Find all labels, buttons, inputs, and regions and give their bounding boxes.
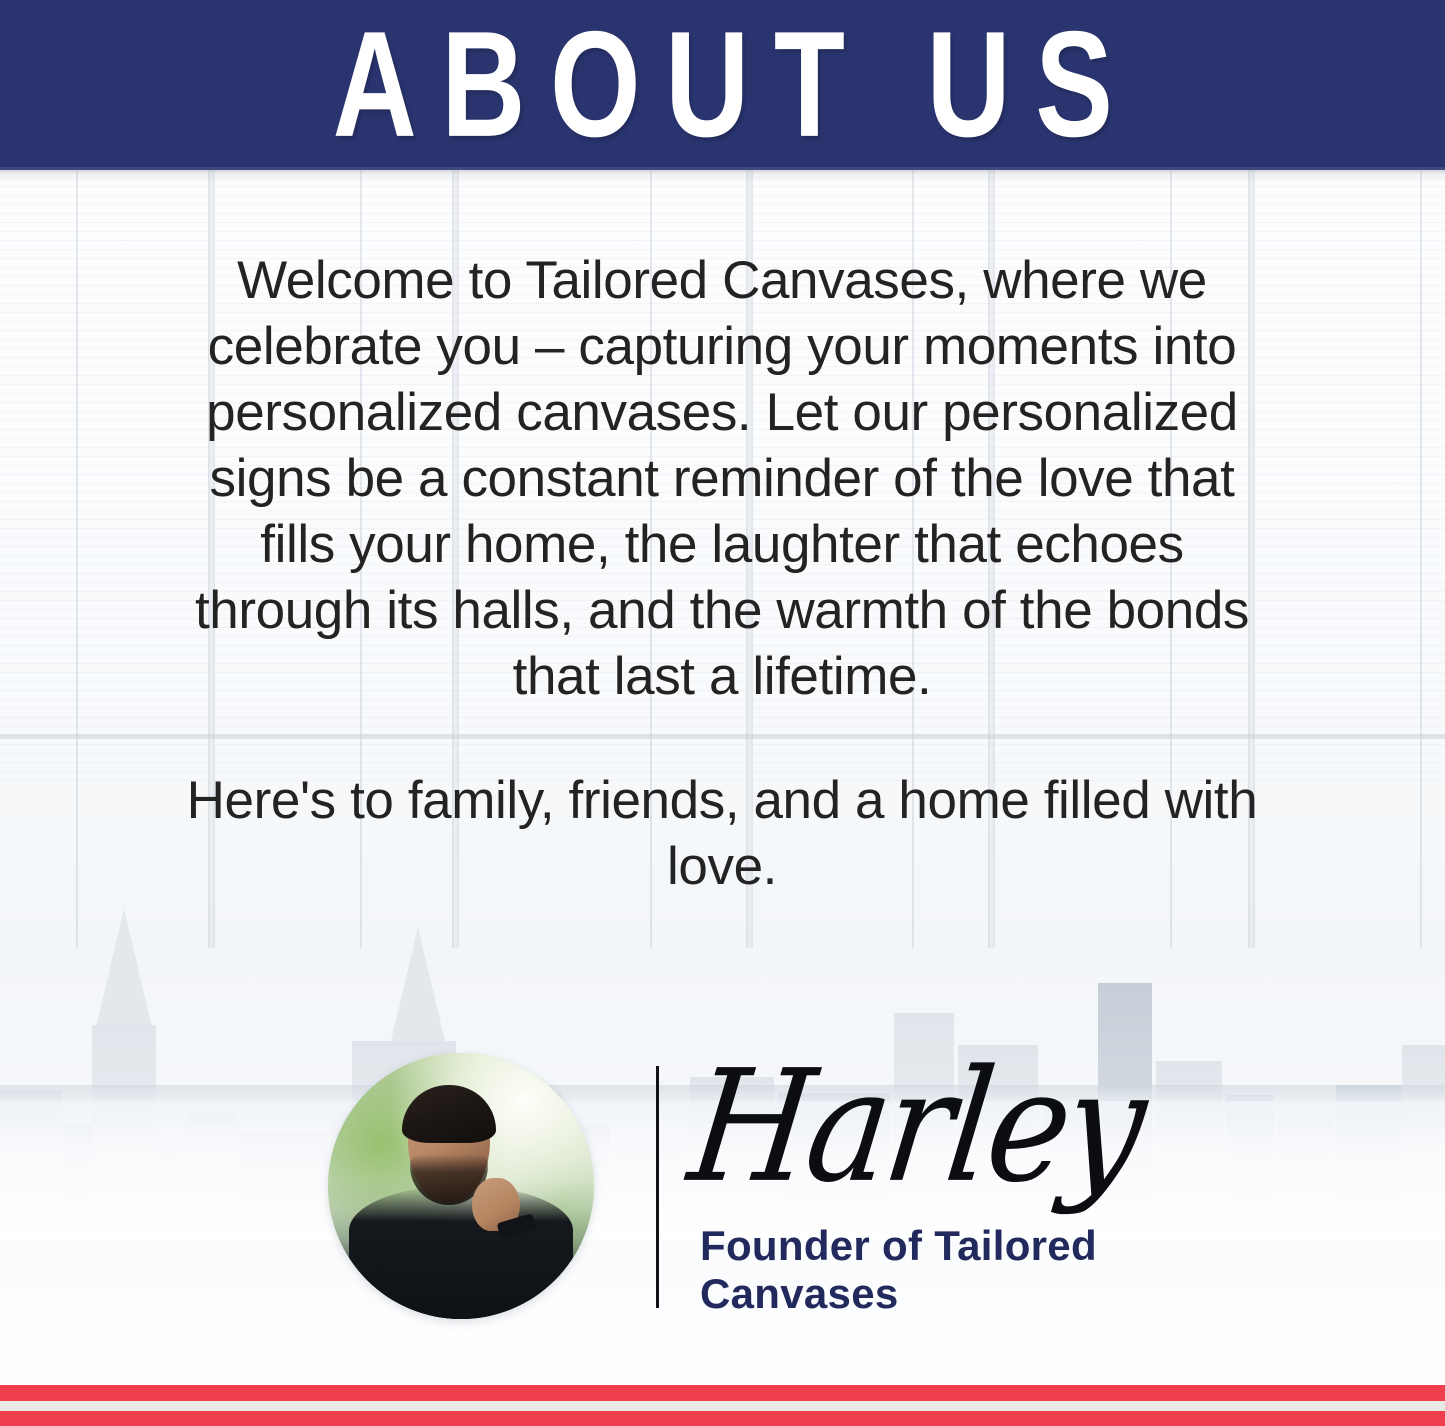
avatar-photo [328, 1053, 594, 1319]
footer-accent-bar-bottom [0, 1411, 1445, 1426]
footer-accent-bar-top [0, 1385, 1445, 1401]
about-us-body-copy: Welcome to Tailored Canvases, where we c… [172, 248, 1272, 900]
founder-role-line-2: Canvases [700, 1270, 1170, 1318]
window-mullion [1420, 168, 1422, 948]
footer-accent-gap [0, 1401, 1445, 1411]
window-mullion [76, 168, 78, 948]
signature-divider [656, 1066, 659, 1308]
about-paragraph-1: Welcome to Tailored Canvases, where we c… [172, 248, 1272, 710]
paragraph-spacer [172, 710, 1272, 768]
page-title: ABOUT US [308, 6, 1137, 165]
about-paragraph-2: Here's to family, friends, and a home fi… [172, 768, 1272, 900]
avatar-shirt [349, 1186, 572, 1319]
founder-signature: Harley [676, 1032, 1124, 1256]
about-us-header-banner: ABOUT US [0, 0, 1445, 170]
avatar-hair [402, 1085, 495, 1144]
about-us-page: ABOUT US Welcome to Tailored Canvases, w… [0, 0, 1445, 1426]
founder-avatar [328, 1053, 594, 1319]
